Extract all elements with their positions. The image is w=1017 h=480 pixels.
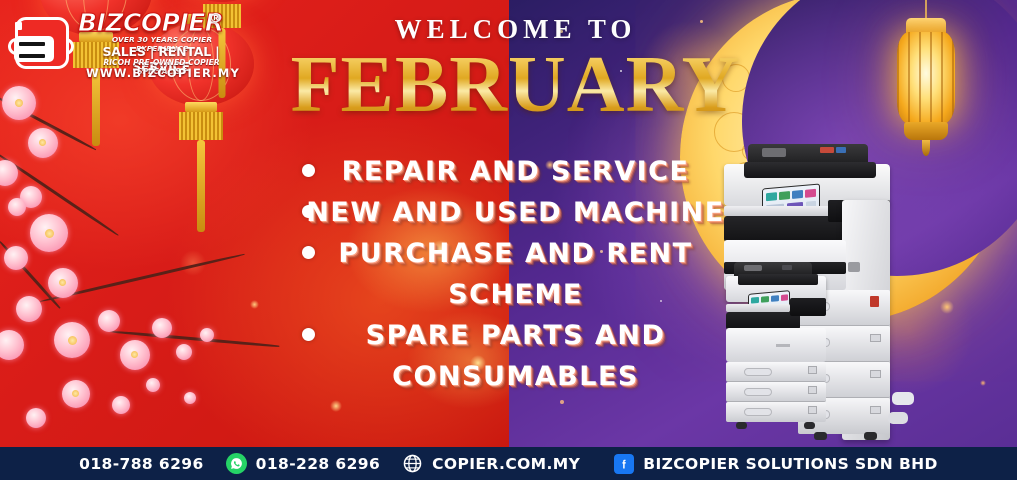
brand-logo[interactable]: BIZCOPIER ® OVER 30 YEARS COPIER EXPERIE… bbox=[8, 8, 234, 76]
whatsapp-icon bbox=[226, 453, 247, 474]
phone-whatsapp-label: 018-228 6296 bbox=[256, 455, 380, 473]
copier-machine-icon bbox=[8, 16, 74, 70]
website-contact[interactable]: COPIER.COM.MY bbox=[402, 453, 580, 474]
phone-primary-label: 018-788 6296 bbox=[79, 455, 203, 473]
registered-trademark-icon: ® bbox=[211, 10, 221, 25]
website-label: COPIER.COM.MY bbox=[432, 455, 580, 473]
phone-primary[interactable]: 018-788 6296 bbox=[79, 455, 203, 473]
chinese-lantern-icon bbox=[176, 0, 268, 2]
contact-footer: 018-788 6296 018-228 6296 COPIER.COM bbox=[0, 447, 1017, 480]
brand-wordmark: BIZCOPIER bbox=[78, 8, 224, 37]
multifunction-copier-icon bbox=[726, 262, 836, 434]
facebook-icon bbox=[614, 454, 634, 474]
promotional-banner: WELCOME TO FEBRUARY REPAIR AND SERVICE N… bbox=[0, 0, 1017, 480]
facebook-page-label: BIZCOPIER SOLUTIONS SDN BHD bbox=[643, 455, 938, 473]
brand-website-wordmark: WWW.BIZCOPIER.MY bbox=[86, 66, 236, 80]
globe-icon bbox=[402, 453, 423, 474]
whatsapp-contact[interactable]: 018-228 6296 bbox=[226, 453, 380, 474]
facebook-contact[interactable]: BIZCOPIER SOLUTIONS SDN BHD bbox=[614, 454, 938, 474]
